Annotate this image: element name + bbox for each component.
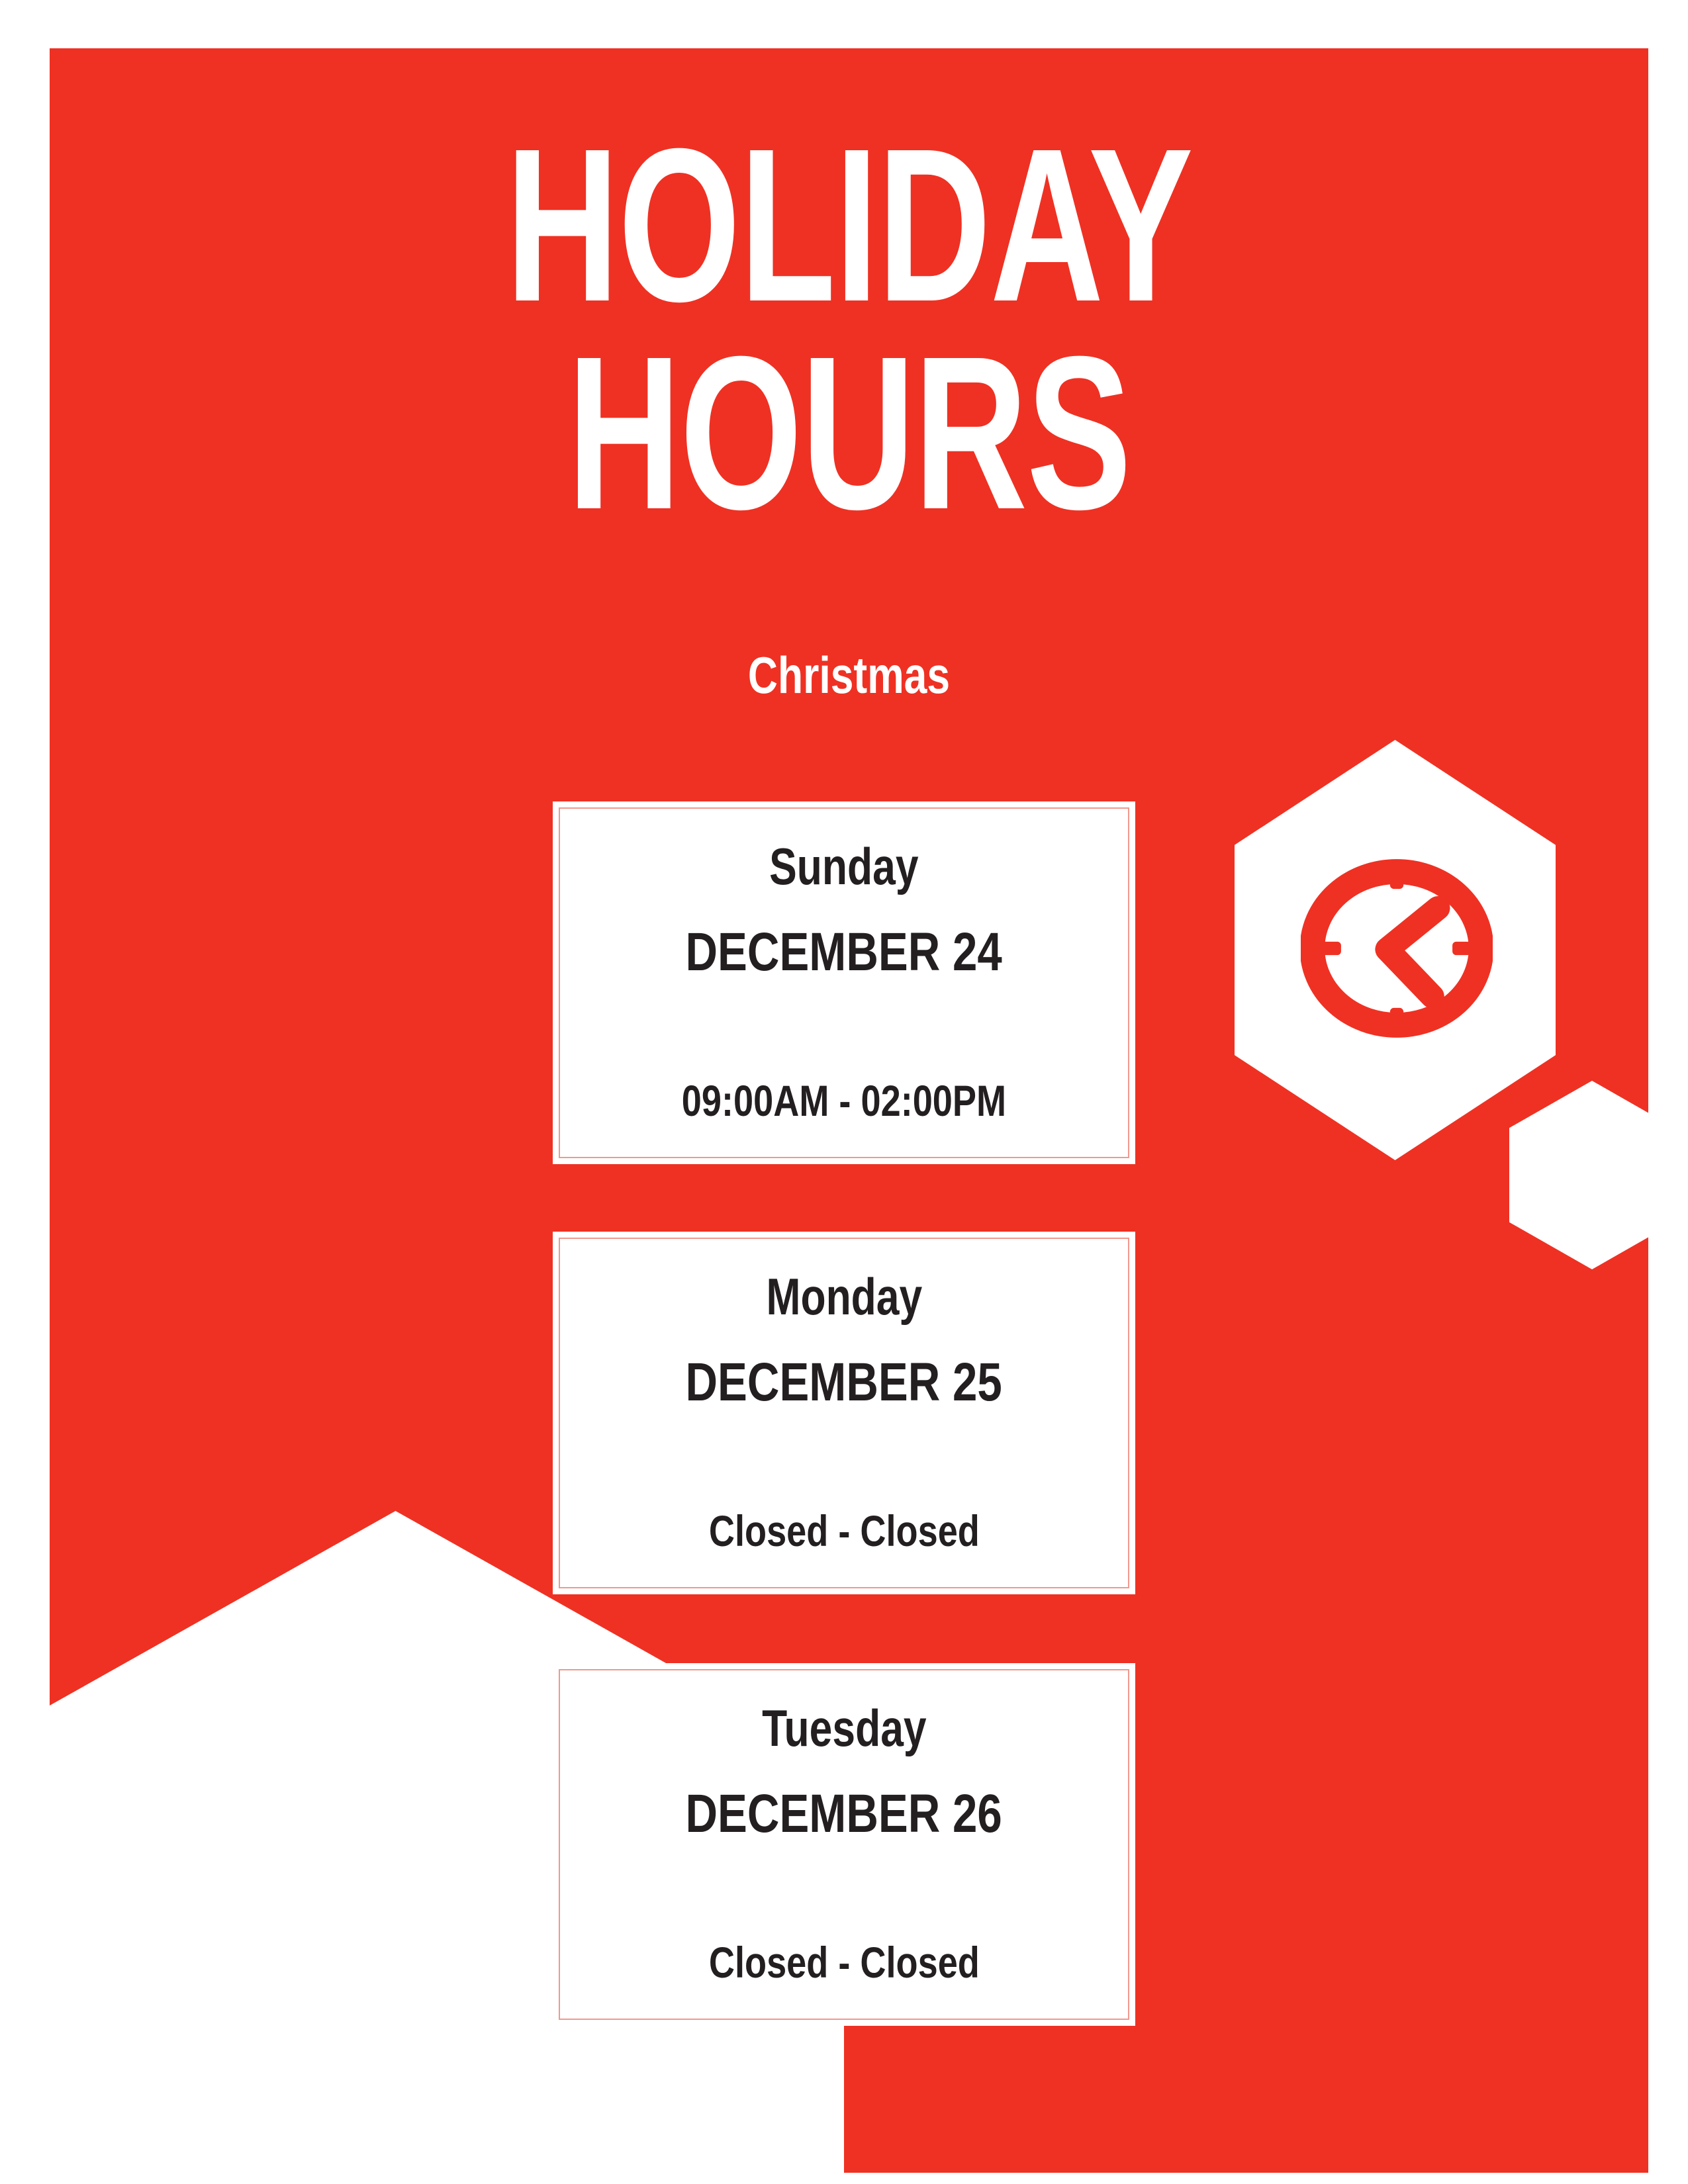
schedule-date: DECEMBER 24 (686, 925, 1002, 979)
page-subtitle: Christmas (210, 649, 1489, 701)
schedule-card-inner: Sunday DECEMBER 24 09:00AM - 02:00PM (559, 807, 1129, 1158)
schedule-day-name: Monday (766, 1271, 922, 1322)
clock-icon (1301, 849, 1493, 1048)
schedule-hours: Closed - Closed (709, 1940, 980, 1984)
schedule-card: Tuesday DECEMBER 26 Closed - Closed (553, 1663, 1135, 2026)
schedule-date: DECEMBER 25 (686, 1355, 1002, 1410)
schedule-hours: 09:00AM - 02:00PM (682, 1079, 1006, 1122)
schedule-day-name: Sunday (769, 841, 918, 892)
schedule-day-name: Tuesday (762, 1702, 927, 1754)
hexagon-shape-small-right (1509, 1081, 1648, 1269)
schedule-date: DECEMBER 26 (686, 1787, 1002, 1841)
schedule-card: Monday DECEMBER 25 Closed - Closed (553, 1232, 1135, 1594)
schedule-card: Sunday DECEMBER 24 09:00AM - 02:00PM (553, 801, 1135, 1164)
holiday-hours-poster: HOLIDAY HOURS Christmas Sunday DECEMBER … (0, 0, 1688, 2184)
schedule-card-inner: Tuesday DECEMBER 26 Closed - Closed (559, 1669, 1129, 2020)
schedule-hours: Closed - Closed (709, 1509, 980, 1553)
page-title: HOLIDAY HOURS (273, 121, 1425, 536)
page-title-line-1: HOLIDAY (273, 121, 1425, 329)
poster-background-panel: HOLIDAY HOURS Christmas Sunday DECEMBER … (50, 48, 1648, 2173)
page-title-line-2: HOURS (273, 329, 1425, 537)
schedule-card-inner: Monday DECEMBER 25 Closed - Closed (559, 1238, 1129, 1588)
